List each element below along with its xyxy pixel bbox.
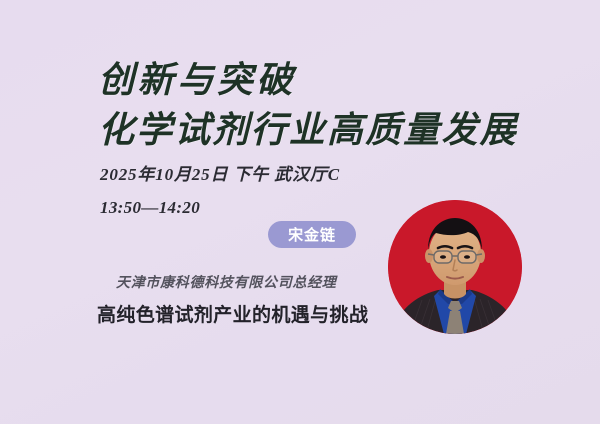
speaker-poster: 创新与突破 化学试剂行业高质量发展 2025年10月25日 下午 武汉厅C 13… — [0, 0, 600, 424]
speaker-affiliation: 天津市康科德科技有限公司总经理 — [116, 272, 337, 292]
speaker-topic: 高纯色谱试剂产业的机遇与挑战 — [97, 300, 368, 327]
portrait-illustration — [388, 200, 522, 334]
headline-line-2: 化学试剂行业高质量发展 — [98, 106, 518, 154]
speaker-portrait — [388, 200, 522, 334]
speaker-name-badge: 宋金链 — [268, 221, 356, 248]
session-time: 13:50—14:20 — [100, 198, 200, 218]
headline-block: 创新与突破 化学试剂行业高质量发展 — [98, 58, 518, 154]
headline-line-1: 创新与突破 — [98, 58, 518, 102]
session-date: 2025年10月25日 下午 武汉厅C — [100, 160, 340, 185]
